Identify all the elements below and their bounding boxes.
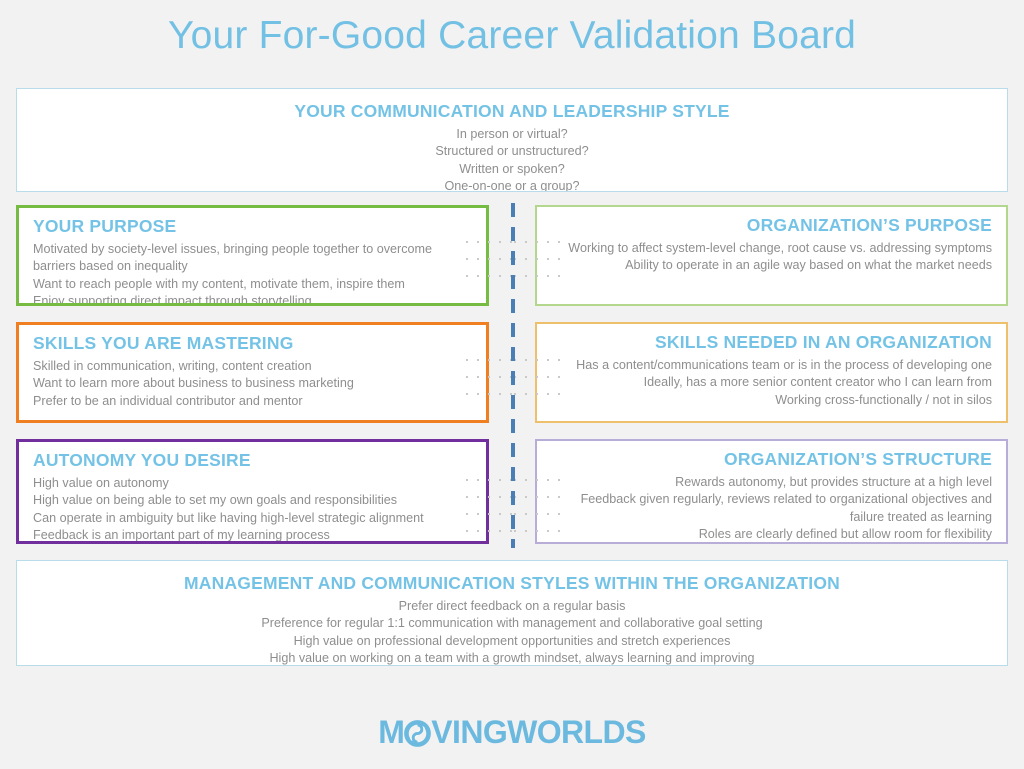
card-line: Feedback given regularly, reviews relate… [551,491,992,508]
card-line: In person or virtual? [27,126,997,143]
card-line: Want to learn more about business to bus… [33,375,472,392]
card-lines: In person or virtual? Structured or unst… [27,126,997,192]
card-autonomy-you-desire: AUTONOMY YOU DESIRE High value on autono… [16,439,489,544]
card-lines: Rewards autonomy, but provides structure… [551,474,992,544]
card-line: Working to affect system-level change, r… [551,240,992,257]
card-organizations-purpose: ORGANIZATION’S PURPOSE Working to affect… [535,205,1008,306]
card-skills-you-are-mastering: SKILLS YOU ARE MASTERING Skilled in comm… [16,322,489,423]
movingworlds-logo: M VINGWORLDS [378,716,646,748]
card-line: Has a content/communications team or is … [551,357,992,374]
card-line: Structured or unstructured? [27,143,997,160]
card-title: MANAGEMENT AND COMMUNICATION STYLES WITH… [27,573,997,595]
card-line: Feedback is an important part of my lear… [33,527,472,544]
card-organizations-structure: ORGANIZATION’S STRUCTURE Rewards autonom… [535,439,1008,544]
logo-text-part2: VINGWORLDS [431,716,645,748]
card-lines: Prefer direct feedback on a regular basi… [27,598,997,666]
card-line: Ideally, has a more senior content creat… [551,374,992,391]
card-communication-leadership-style: YOUR COMMUNICATION AND LEADERSHIP STYLE … [16,88,1008,192]
card-title: YOUR PURPOSE [33,216,472,238]
card-line: High value on autonomy [33,475,472,492]
card-management-communication-styles: MANAGEMENT AND COMMUNICATION STYLES WITH… [16,560,1008,666]
card-line: High value on being able to set my own g… [33,492,472,509]
footer: M VINGWORLDS [0,716,1024,748]
card-title: SKILLS YOU ARE MASTERING [33,333,472,355]
card-line: Prefer direct feedback on a regular basi… [27,598,997,615]
card-line: High value on working on a team with a g… [27,650,997,666]
card-lines: Has a content/communications team or is … [551,357,992,409]
card-lines: Motivated by society-level issues, bring… [33,241,472,306]
card-line: Want to reach people with my content, mo… [33,276,472,293]
logo-text-part1: M [378,716,404,748]
card-line: Written or spoken? [27,161,997,178]
card-line: Can operate in ambiguity but like having… [33,510,472,527]
center-dashed-divider [511,203,515,548]
card-line: Enjoy supporting direct impact through s… [33,293,472,306]
card-line: High value on professional development o… [27,633,997,650]
card-line: barriers based on inequality [33,258,472,275]
card-skills-needed-in-an-organization: SKILLS NEEDED IN AN ORGANIZATION Has a c… [535,322,1008,423]
card-title: SKILLS NEEDED IN AN ORGANIZATION [551,332,992,354]
card-title: YOUR COMMUNICATION AND LEADERSHIP STYLE [27,101,997,123]
page-title: Your For-Good Career Validation Board [0,0,1024,72]
card-line: Motivated by society-level issues, bring… [33,241,472,258]
globe-swirl-icon [404,720,431,747]
card-line: Skilled in communication, writing, conte… [33,358,472,375]
card-line: Preference for regular 1:1 communication… [27,615,997,632]
card-line: failure treated as learning [551,509,992,526]
card-your-purpose: YOUR PURPOSE Motivated by society-level … [16,205,489,306]
card-line: Prefer to be an individual contributor a… [33,393,472,410]
card-line: Working cross-functionally / not in silo… [551,392,992,409]
card-line: Rewards autonomy, but provides structure… [551,474,992,491]
card-title: ORGANIZATION’S STRUCTURE [551,449,992,471]
card-title: AUTONOMY YOU DESIRE [33,450,472,472]
card-line: Ability to operate in an agile way based… [551,257,992,274]
card-line: One-on-one or a group? [27,178,997,192]
card-lines: Working to affect system-level change, r… [551,240,992,275]
card-title: ORGANIZATION’S PURPOSE [551,215,992,237]
card-line: Roles are clearly defined but allow room… [551,526,992,543]
card-lines: Skilled in communication, writing, conte… [33,358,472,410]
card-lines: High value on autonomy High value on bei… [33,475,472,544]
